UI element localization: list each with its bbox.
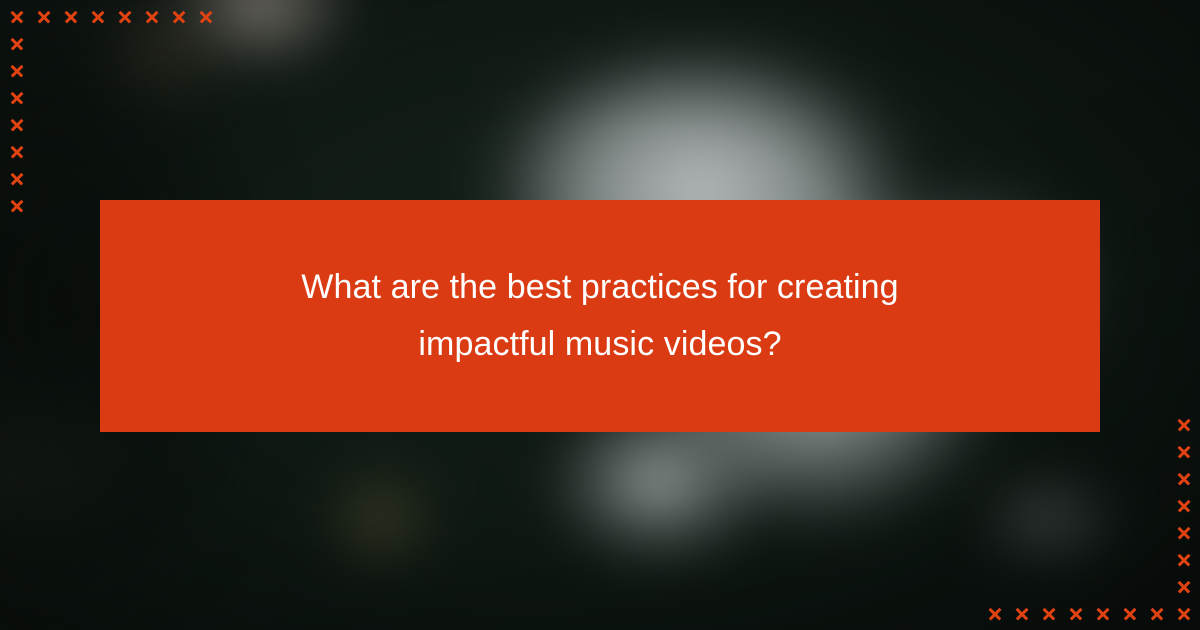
x-grid-spacer [84, 57, 111, 84]
x-grid-spacer [165, 165, 192, 192]
x-mark-icon [3, 57, 30, 84]
x-grid-spacer [1008, 438, 1035, 465]
x-grid-spacer [1116, 519, 1143, 546]
x-mark-icon [1170, 438, 1197, 465]
x-mark-icon [1170, 573, 1197, 600]
x-grid-spacer [1008, 492, 1035, 519]
x-mark-icon [3, 30, 30, 57]
x-mark-icon [1089, 600, 1116, 627]
x-grid-spacer [57, 30, 84, 57]
x-grid-spacer [1116, 465, 1143, 492]
x-grid-spacer [1116, 492, 1143, 519]
x-grid-spacer [30, 30, 57, 57]
x-grid-spacer [1062, 519, 1089, 546]
x-mark-icon [165, 3, 192, 30]
x-grid-spacer [1035, 438, 1062, 465]
x-mark-icon [3, 111, 30, 138]
x-grid-spacer [1089, 546, 1116, 573]
x-mark-icon [3, 84, 30, 111]
x-grid-spacer [1143, 465, 1170, 492]
x-grid-spacer [165, 138, 192, 165]
x-grid-spacer [1143, 573, 1170, 600]
x-mark-icon [1170, 411, 1197, 438]
x-mark-icon [1143, 600, 1170, 627]
headline-banner: What are the best practices for creating… [100, 200, 1100, 432]
x-grid-spacer [138, 138, 165, 165]
x-mark-icon [1170, 546, 1197, 573]
x-grid-spacer [192, 57, 219, 84]
x-grid-spacer [1089, 573, 1116, 600]
x-grid-spacer [57, 165, 84, 192]
x-mark-icon [3, 138, 30, 165]
x-pattern-top-left [3, 3, 219, 219]
x-grid-spacer [165, 57, 192, 84]
x-grid-spacer [1089, 519, 1116, 546]
x-grid-spacer [111, 165, 138, 192]
x-grid-spacer [192, 165, 219, 192]
x-grid-spacer [30, 111, 57, 138]
x-grid-spacer [30, 192, 57, 219]
x-mark-icon [3, 165, 30, 192]
x-grid-spacer [57, 138, 84, 165]
x-grid-spacer [192, 30, 219, 57]
x-grid-spacer [111, 30, 138, 57]
x-grid-spacer [84, 111, 111, 138]
x-mark-icon [111, 3, 138, 30]
x-grid-spacer [1062, 492, 1089, 519]
x-grid-spacer [1089, 465, 1116, 492]
x-grid-spacer [84, 138, 111, 165]
x-grid-spacer [981, 465, 1008, 492]
x-grid-spacer [1089, 492, 1116, 519]
x-grid-spacer [1062, 546, 1089, 573]
x-grid-spacer [1143, 411, 1170, 438]
x-mark-icon [1062, 600, 1089, 627]
x-mark-icon [981, 600, 1008, 627]
x-grid-spacer [57, 192, 84, 219]
x-mark-icon [1170, 465, 1197, 492]
x-grid-spacer [1035, 492, 1062, 519]
x-grid-spacer [138, 84, 165, 111]
x-grid-spacer [111, 111, 138, 138]
x-grid-spacer [1143, 492, 1170, 519]
x-mark-icon [3, 3, 30, 30]
x-grid-spacer [165, 111, 192, 138]
x-grid-spacer [84, 165, 111, 192]
x-grid-spacer [57, 57, 84, 84]
x-grid-spacer [30, 57, 57, 84]
x-grid-spacer [30, 138, 57, 165]
x-mark-icon [57, 3, 84, 30]
x-grid-spacer [111, 84, 138, 111]
x-grid-spacer [981, 438, 1008, 465]
x-grid-spacer [981, 492, 1008, 519]
x-grid-spacer [30, 165, 57, 192]
x-grid-spacer [1116, 546, 1143, 573]
x-grid-spacer [1062, 465, 1089, 492]
x-mark-icon [3, 192, 30, 219]
x-grid-spacer [1035, 546, 1062, 573]
x-mark-icon [1116, 600, 1143, 627]
x-grid-spacer [84, 30, 111, 57]
x-grid-spacer [1116, 573, 1143, 600]
x-grid-spacer [84, 84, 111, 111]
x-grid-spacer [30, 84, 57, 111]
x-grid-spacer [1035, 519, 1062, 546]
x-grid-spacer [57, 84, 84, 111]
x-grid-spacer [1143, 546, 1170, 573]
x-grid-spacer [138, 111, 165, 138]
x-grid-spacer [1116, 438, 1143, 465]
x-grid-spacer [138, 30, 165, 57]
x-grid-spacer [1143, 438, 1170, 465]
x-pattern-bottom-right [981, 411, 1197, 627]
x-mark-icon [84, 3, 111, 30]
x-grid-spacer [1008, 546, 1035, 573]
x-grid-spacer [1035, 573, 1062, 600]
x-grid-spacer [192, 138, 219, 165]
x-mark-icon [30, 3, 57, 30]
x-grid-spacer [981, 546, 1008, 573]
x-grid-spacer [1143, 519, 1170, 546]
headline-text: What are the best practices for creating… [260, 259, 940, 373]
x-grid-spacer [111, 138, 138, 165]
x-grid-spacer [138, 165, 165, 192]
x-grid-spacer [1008, 519, 1035, 546]
social-share-card: What are the best practices for creating… [0, 0, 1200, 630]
x-mark-icon [138, 3, 165, 30]
x-grid-spacer [1008, 573, 1035, 600]
x-grid-spacer [165, 84, 192, 111]
x-grid-spacer [165, 30, 192, 57]
x-mark-icon [1008, 600, 1035, 627]
x-mark-icon [1035, 600, 1062, 627]
x-mark-icon [1170, 519, 1197, 546]
x-grid-spacer [1035, 465, 1062, 492]
x-grid-spacer [981, 573, 1008, 600]
x-grid-spacer [138, 57, 165, 84]
x-mark-icon [1170, 492, 1197, 519]
x-grid-spacer [1062, 438, 1089, 465]
x-grid-spacer [1116, 411, 1143, 438]
x-grid-spacer [1008, 465, 1035, 492]
x-mark-icon [1170, 600, 1197, 627]
x-grid-spacer [981, 519, 1008, 546]
x-grid-spacer [192, 84, 219, 111]
x-grid-spacer [192, 111, 219, 138]
x-grid-spacer [111, 57, 138, 84]
x-grid-spacer [57, 111, 84, 138]
x-grid-spacer [1089, 438, 1116, 465]
x-grid-spacer [1062, 573, 1089, 600]
x-mark-icon [192, 3, 219, 30]
